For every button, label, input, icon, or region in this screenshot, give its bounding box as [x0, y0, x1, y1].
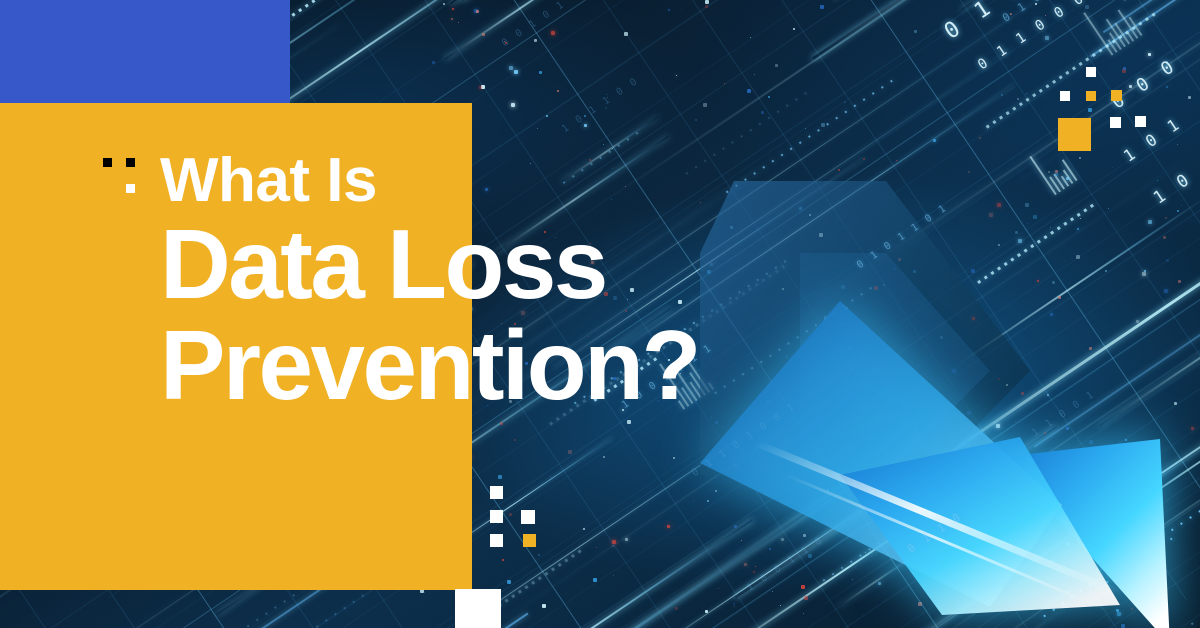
white-square — [490, 486, 503, 499]
white-square — [1110, 117, 1121, 128]
white-square — [490, 510, 503, 523]
white-square — [126, 184, 135, 193]
black-square — [126, 158, 135, 167]
yellow-square — [1058, 118, 1091, 151]
white-square — [1086, 67, 1096, 77]
yellow-square — [523, 534, 536, 547]
yellow-square — [1111, 90, 1122, 101]
black-square — [103, 158, 112, 167]
white-square — [490, 534, 503, 547]
yellow-square — [1086, 91, 1096, 101]
title-line-2: Data Loss — [160, 214, 1060, 315]
white-square — [1135, 116, 1146, 127]
title-line-1: What Is — [160, 150, 1060, 212]
white-rectangle — [455, 589, 501, 628]
hero-banner: 0 1 10 1 1 0 0 00 0 01 0 11 00 1 0 0 11 … — [0, 0, 1200, 628]
page-title: What Is Data Loss Prevention? — [160, 150, 1060, 416]
white-square — [521, 510, 535, 524]
title-decor-dots — [103, 158, 143, 204]
white-square — [1060, 91, 1070, 101]
title-line-3: Prevention? — [160, 315, 1060, 416]
